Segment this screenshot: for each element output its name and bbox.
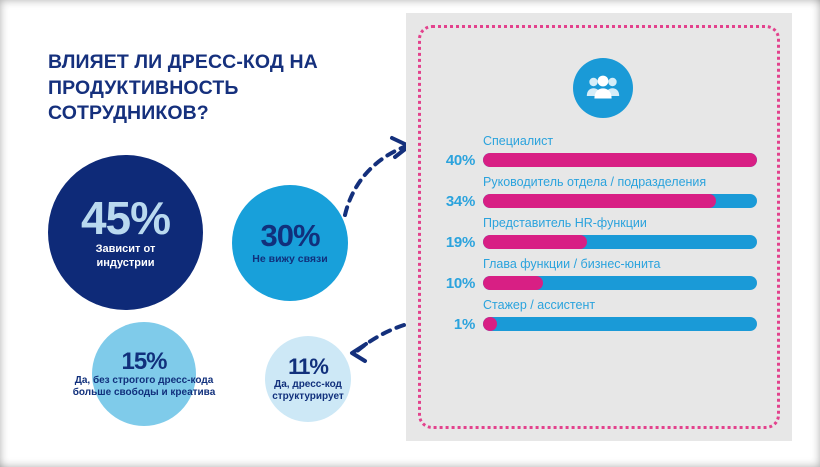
bar-track — [483, 194, 757, 208]
bar-row: Глава функции / бизнес-юнита 10% — [430, 257, 770, 298]
bar-row: Специалист 40% — [430, 134, 770, 175]
bar-track — [483, 153, 757, 167]
bar-fill — [483, 194, 716, 208]
bar-percent: 1% — [430, 316, 475, 333]
arrow-upper-line — [345, 147, 404, 215]
stat-bubble-45-percent: 45% — [81, 195, 170, 241]
bar-fill — [483, 235, 587, 249]
stat-bubble-11-caption: Да, дресс-код структурирует — [248, 379, 368, 403]
bar-track — [483, 317, 757, 331]
bar-percent: 19% — [430, 234, 475, 251]
stat-bubble-15: 15% Да, без строгого дресс-кода больше с… — [92, 322, 196, 426]
bar-fill — [483, 153, 757, 167]
bar-row: Представитель HR-функции 19% — [430, 216, 770, 257]
bar-track — [483, 235, 757, 249]
stat-bubble-30: 30% Не вижу связи — [232, 185, 348, 301]
stat-bubble-30-percent: 30% — [260, 220, 319, 251]
bar-fill — [483, 317, 497, 331]
stat-bubble-45: 45% Зависит от индустрии — [48, 155, 203, 310]
people-group-icon — [573, 58, 633, 118]
infographic-canvas: ВЛИЯЕТ ЛИ ДРЕСС-КОД НА ПРОДУКТИВНОСТЬ СО… — [0, 0, 820, 467]
bar-label: Стажер / ассистент — [483, 298, 595, 312]
stat-bubble-15-caption: Да, без строгого дресс-кода больше свобо… — [69, 375, 219, 399]
arrow-lower-line — [356, 325, 404, 352]
stat-bubble-11-percent: 11% — [288, 356, 328, 378]
bar-label: Глава функции / бизнес-юнита — [483, 257, 660, 271]
arrow-lower-head — [352, 344, 366, 361]
stat-bubble-45-caption: Зависит от индустрии — [71, 243, 181, 269]
bar-percent: 40% — [430, 152, 475, 169]
stat-bubble-30-caption: Не вижу связи — [246, 253, 334, 266]
bar-percent: 34% — [430, 193, 475, 210]
bar-label: Специалист — [483, 134, 553, 148]
bar-label: Представитель HR-функции — [483, 216, 647, 230]
stat-bubble-11: 11% Да, дресс-код структурирует — [265, 336, 351, 422]
page-title: ВЛИЯЕТ ЛИ ДРЕСС-КОД НА ПРОДУКТИВНОСТЬ СО… — [48, 50, 398, 127]
people-group-glyph — [586, 75, 620, 101]
bar-row: Стажер / ассистент 1% — [430, 298, 770, 339]
bar-track — [483, 276, 757, 290]
bar-row: Руководитель отдела / подразделения 34% — [430, 175, 770, 216]
bar-label: Руководитель отдела / подразделения — [483, 175, 706, 189]
bar-list: Специалист 40% Руководитель отдела / под… — [430, 134, 770, 339]
stat-bubble-15-percent: 15% — [121, 350, 166, 374]
bar-percent: 10% — [430, 275, 475, 292]
bar-fill — [483, 276, 543, 290]
